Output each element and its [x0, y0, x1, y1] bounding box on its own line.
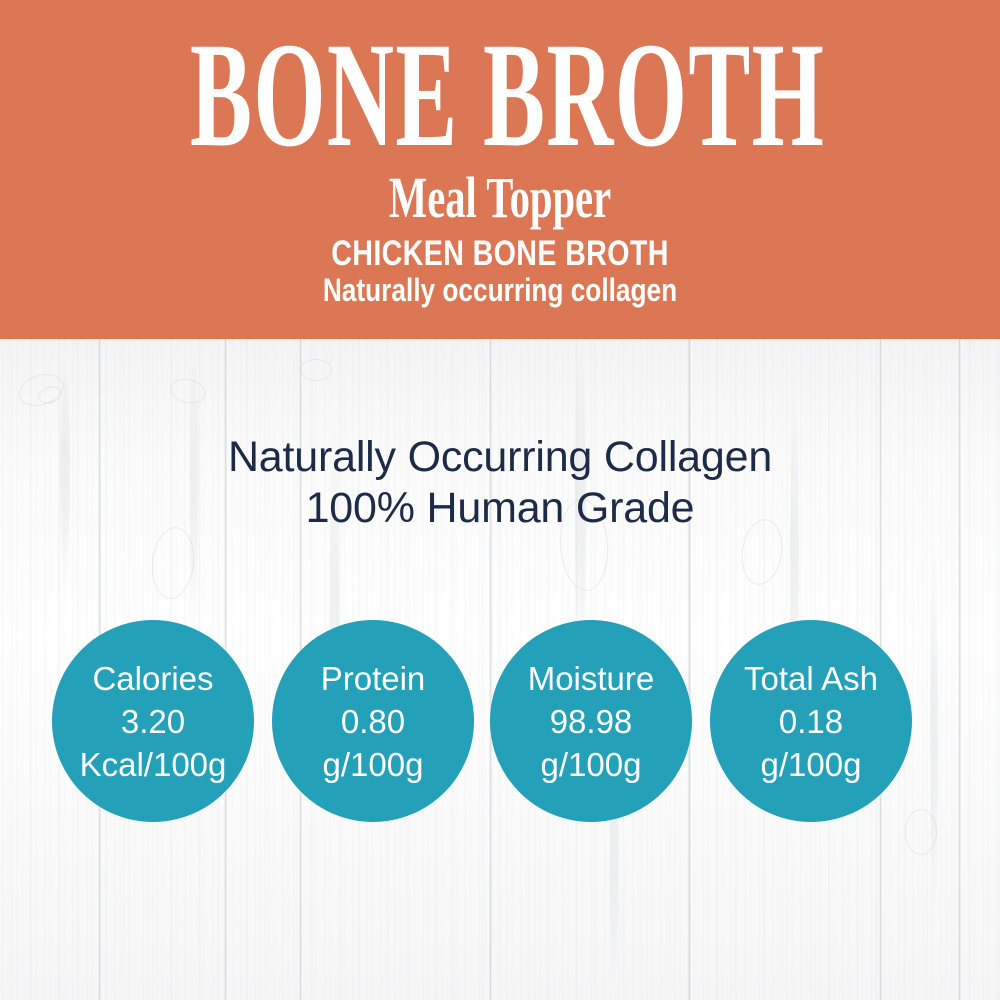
nutrition-label: Protein — [321, 657, 426, 700]
product-title: BONE BROTH — [190, 31, 810, 159]
product-claim: Naturally occurring collagen — [90, 274, 910, 306]
nutrition-badge-calories: Calories 3.20 Kcal/100g — [52, 620, 254, 822]
nutrition-label: Moisture — [528, 657, 655, 700]
nutrition-label: Total Ash — [744, 657, 878, 700]
page-headline: Naturally Occurring Collagen 100% Human … — [0, 432, 1000, 534]
nutrition-unit: g/100g — [323, 743, 424, 786]
wood-knot — [300, 359, 332, 381]
nutrition-value: 0.18 — [779, 700, 843, 743]
nutrition-unit: Kcal/100g — [80, 743, 227, 786]
product-infographic: BONE BROTH Meal Topper CHICKEN BONE BROT… — [0, 0, 1000, 1000]
product-subtitle: Meal Topper — [150, 172, 850, 224]
product-flavor: CHICKEN BONE BROTH — [90, 236, 910, 271]
nutrition-badge-protein: Protein 0.80 g/100g — [272, 620, 474, 822]
nutrition-value: 3.20 — [121, 700, 185, 743]
nutrition-badge-row: Calories 3.20 Kcal/100g Protein 0.80 g/1… — [0, 620, 1000, 824]
headline-line-2: 100% Human Grade — [0, 483, 1000, 534]
nutrition-label: Calories — [92, 657, 213, 700]
nutrition-unit: g/100g — [761, 743, 862, 786]
nutrition-badge-total-ash: Total Ash 0.18 g/100g — [710, 620, 912, 822]
nutrition-value: 0.80 — [341, 700, 405, 743]
nutrition-unit: g/100g — [541, 743, 642, 786]
header-banner: BONE BROTH Meal Topper CHICKEN BONE BROT… — [0, 0, 1000, 339]
nutrition-value: 98.98 — [550, 700, 633, 743]
headline-line-1: Naturally Occurring Collagen — [0, 432, 1000, 483]
nutrition-badge-moisture: Moisture 98.98 g/100g — [490, 620, 692, 822]
